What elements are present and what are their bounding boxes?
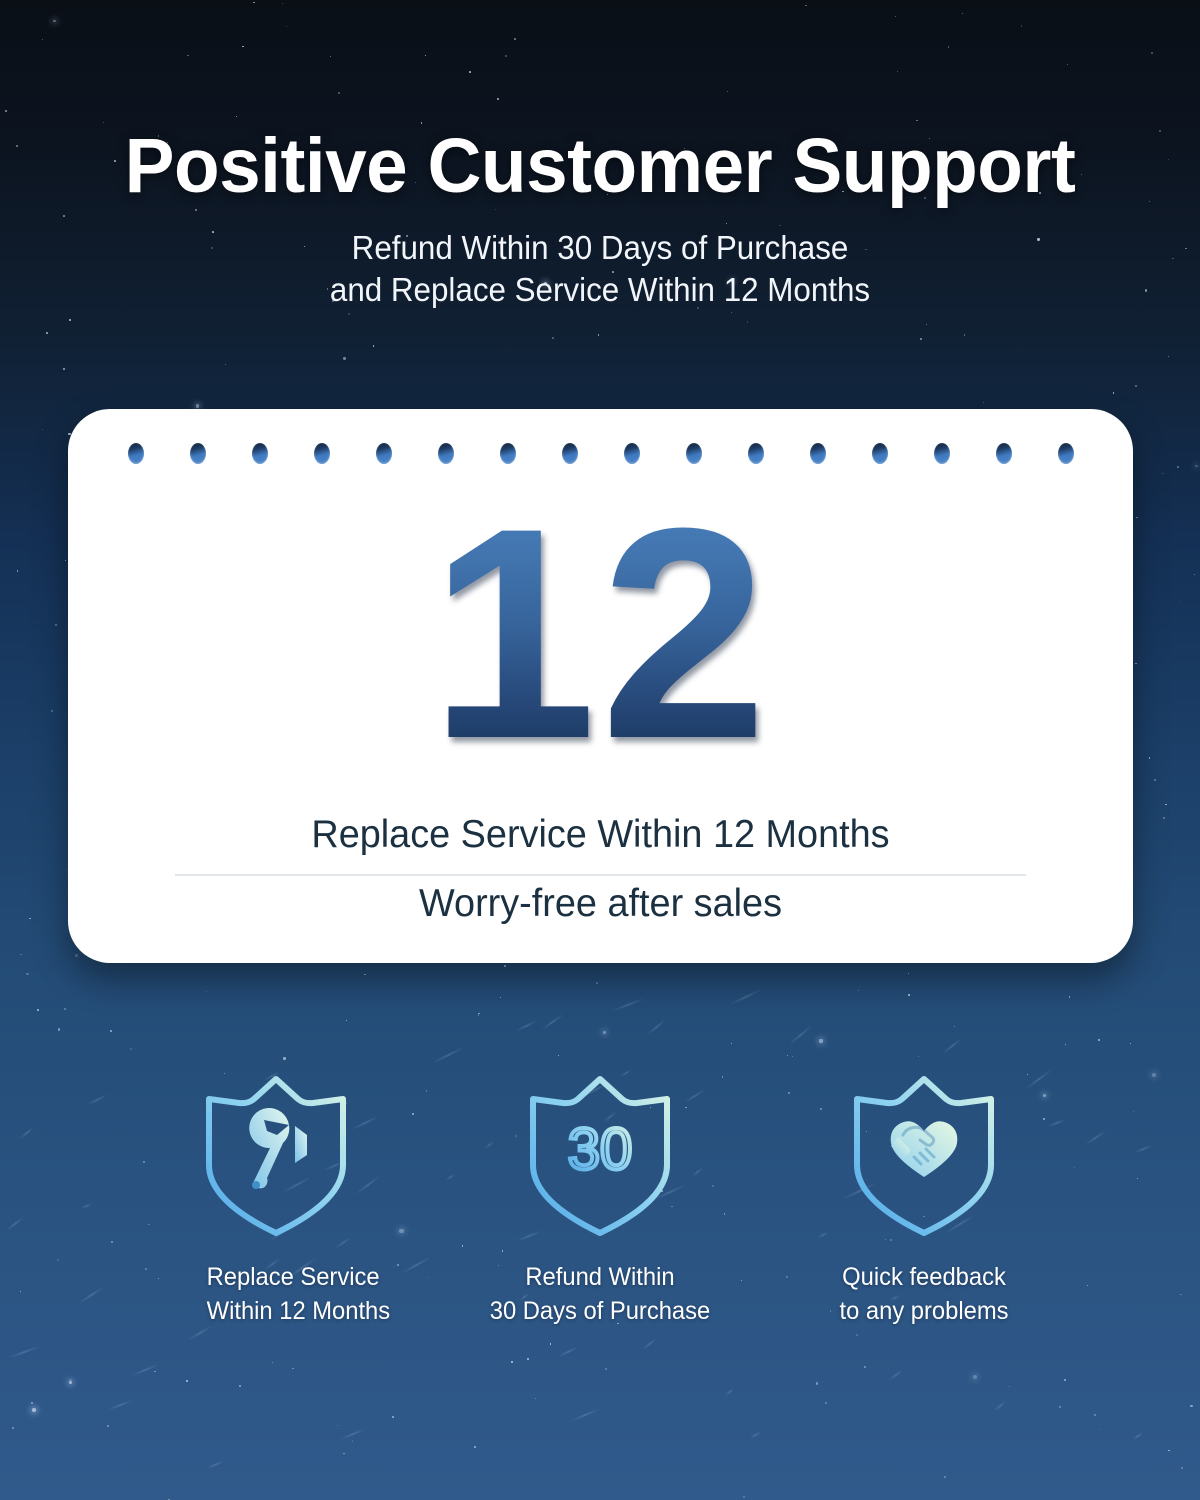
star-speck <box>1009 1386 1010 1387</box>
header: Positive Customer Support Refund Within … <box>0 0 1200 311</box>
badge-row: Replace Service Within 12 Months 30 Refu… <box>0 1073 1200 1329</box>
star-speck <box>973 1375 977 1379</box>
star-speck <box>1190 1405 1192 1407</box>
star-speck <box>926 324 927 325</box>
badge-quick-feedback: Quick feedback to any problems <box>851 1073 997 1329</box>
star-streak <box>515 1020 536 1032</box>
shield-handshake-heart-icon <box>851 1073 997 1239</box>
calendar-hole <box>1058 443 1074 464</box>
star-streak <box>647 1019 666 1035</box>
star-speck <box>478 1014 480 1016</box>
star-speck <box>552 337 553 338</box>
star-streak <box>750 1430 763 1438</box>
star-speck <box>69 1381 72 1384</box>
star-speck <box>598 334 600 336</box>
calendar-hole <box>748 443 764 464</box>
star-streak <box>558 1347 578 1358</box>
star-speck <box>69 319 71 321</box>
page-subtitle-line-2: and Replace Service Within 12 Months <box>30 269 1170 311</box>
shield-30-days-icon: 30 <box>527 1073 673 1239</box>
star-speck <box>37 1009 39 1011</box>
big-number: 12 <box>68 483 1133 783</box>
star-speck <box>1154 779 1156 781</box>
star-streak <box>432 1047 464 1064</box>
star-speck <box>364 974 365 975</box>
star-speck <box>29 918 31 920</box>
star-speck <box>743 1496 745 1498</box>
card-divider <box>175 874 1026 876</box>
star-speck <box>69 1379 71 1381</box>
star-speck <box>816 1382 818 1384</box>
calendar-hole <box>314 443 330 464</box>
star-speck <box>550 1343 551 1344</box>
star-speck <box>731 1043 732 1044</box>
star-streak <box>611 998 645 1013</box>
star-speck <box>856 1334 858 1336</box>
star-speck <box>825 1402 827 1404</box>
star-speck <box>1059 1406 1061 1408</box>
star-speck <box>1179 601 1180 602</box>
star-speck <box>107 1425 109 1427</box>
star-speck <box>337 1425 338 1426</box>
calendar-hole <box>810 443 826 464</box>
star-speck <box>352 1440 353 1441</box>
star-speck <box>1135 385 1137 387</box>
star-speck <box>819 1039 822 1042</box>
star-streak <box>725 1388 735 1397</box>
star-speck <box>1165 804 1166 805</box>
star-speck <box>343 357 345 359</box>
star-speck <box>65 560 66 561</box>
star-speck <box>1168 1450 1170 1452</box>
star-speck <box>64 1008 66 1010</box>
star-speck <box>206 991 207 992</box>
badge-replace-service: Replace Service Within 12 Months <box>203 1073 349 1329</box>
star-speck <box>1163 817 1165 819</box>
star-streak <box>570 1408 600 1422</box>
star-streak <box>642 1338 657 1350</box>
star-streak <box>131 1363 160 1376</box>
star-streak <box>889 1370 903 1381</box>
page-title: Positive Customer Support <box>18 128 1182 205</box>
star-speck <box>392 1416 394 1418</box>
star-streak <box>108 1399 134 1410</box>
star-speck <box>283 1057 286 1060</box>
star-speck <box>1149 757 1150 758</box>
calendar-hole <box>934 443 950 464</box>
star-speck <box>787 1055 788 1056</box>
star-speck <box>535 1398 536 1399</box>
calendar-hole <box>128 443 144 464</box>
star-speck <box>908 994 909 995</box>
star-speck <box>596 982 598 984</box>
card-subline: Worry-free after sales <box>84 882 1117 926</box>
calendar-hole <box>500 443 516 464</box>
star-speck <box>792 1056 793 1057</box>
star-speck <box>32 1408 36 1412</box>
star-speck <box>1099 1429 1100 1430</box>
star-speck <box>504 965 506 967</box>
star-speck <box>17 570 19 572</box>
star-speck <box>920 338 922 340</box>
star-speck <box>225 364 226 365</box>
star-speck <box>1113 392 1115 394</box>
badge-refund-30-days: 30 Refund Within 30 Days of Purchase <box>527 1073 673 1329</box>
star-speck <box>964 334 966 336</box>
star-speck <box>110 1030 112 1032</box>
star-speck <box>908 973 909 974</box>
star-speck <box>1195 465 1198 468</box>
star-speck <box>75 954 78 957</box>
star-streak <box>206 1461 223 1470</box>
star-speck <box>1064 1379 1066 1381</box>
star-speck <box>292 1368 293 1369</box>
star-speck <box>58 1028 60 1030</box>
star-speck <box>1136 517 1138 519</box>
star-speck <box>196 404 199 407</box>
star-streak <box>540 1013 563 1030</box>
star-speck <box>55 624 57 626</box>
star-speck <box>346 1020 347 1021</box>
star-speck <box>1181 1467 1183 1469</box>
star-speck <box>20 954 21 955</box>
star-streak <box>1132 1432 1143 1441</box>
star-speck <box>944 1476 946 1478</box>
star-speck <box>1162 473 1163 474</box>
star-speck <box>478 1013 480 1015</box>
star-speck <box>954 1026 955 1027</box>
star-speck <box>1177 466 1179 468</box>
star-speck <box>46 332 48 334</box>
star-speck <box>858 990 860 992</box>
calendar-hole <box>872 443 888 464</box>
calendar-hole <box>190 443 206 464</box>
star-speck <box>1130 1043 1131 1044</box>
calendar-hole <box>376 443 392 464</box>
star-speck <box>1065 1044 1066 1045</box>
calendar-hole <box>686 443 702 464</box>
page-subtitle-line-1: Refund Within 30 Days of Purchase <box>30 227 1170 269</box>
star-speck <box>31 1402 33 1404</box>
star-speck <box>343 1453 345 1455</box>
star-speck <box>1168 356 1169 357</box>
star-speck <box>186 1380 188 1382</box>
star-speck <box>747 321 749 323</box>
star-speck <box>154 1371 155 1372</box>
star-speck <box>864 1366 866 1368</box>
star-streak <box>729 988 762 1005</box>
star-speck <box>42 429 44 431</box>
star-speck <box>1098 1039 1100 1041</box>
star-speck <box>731 312 732 313</box>
star-speck <box>474 1446 476 1448</box>
star-streak <box>942 1037 962 1054</box>
star-speck <box>348 313 350 315</box>
star-streak <box>341 1428 366 1440</box>
badge-caption: Quick feedback to any problems <box>801 1261 1048 1329</box>
star-streak <box>993 1401 1007 1413</box>
star-speck <box>605 1368 607 1370</box>
star-speck <box>1069 996 1070 997</box>
star-speck <box>1194 574 1195 575</box>
star-speck <box>373 345 374 346</box>
badge-caption: Replace Service Within 12 Months <box>207 1261 346 1329</box>
calendar-binding-holes <box>68 443 1133 464</box>
calendar-hole <box>252 443 268 464</box>
star-speck <box>63 368 65 370</box>
calendar-hole <box>624 443 640 464</box>
star-speck <box>511 1361 513 1363</box>
star-speck <box>272 1362 273 1363</box>
star-speck <box>558 1055 559 1056</box>
star-speck <box>983 402 984 403</box>
star-speck <box>51 710 53 712</box>
poster-root: Positive Customer Support Refund Within … <box>0 0 1200 1500</box>
star-speck <box>26 973 28 975</box>
shield-wrench-icon <box>203 1073 349 1239</box>
shield-inner-number: 30 <box>568 1117 633 1182</box>
star-speck <box>603 1031 606 1034</box>
calendar-hole <box>438 443 454 464</box>
star-speck <box>130 1048 132 1050</box>
star-speck <box>1135 663 1137 665</box>
calendar-hole <box>996 443 1012 464</box>
star-speck <box>239 1385 241 1387</box>
star-speck <box>527 1358 529 1360</box>
star-streak <box>788 1024 814 1045</box>
calendar-hole <box>562 443 578 464</box>
badge-caption: Refund Within 30 Days of Purchase <box>477 1261 724 1329</box>
star-speck <box>12 1427 14 1429</box>
page-subtitle: Refund Within 30 Days of Purchase and Re… <box>30 227 1170 311</box>
star-speck <box>1094 1414 1096 1416</box>
calendar-card: 12 Replace Service Within 12 Months Worr… <box>68 409 1133 963</box>
card-headline: Replace Service Within 12 Months <box>84 813 1117 857</box>
star-speck <box>500 997 501 998</box>
star-speck <box>918 1056 919 1057</box>
star-streak <box>9 1346 41 1359</box>
